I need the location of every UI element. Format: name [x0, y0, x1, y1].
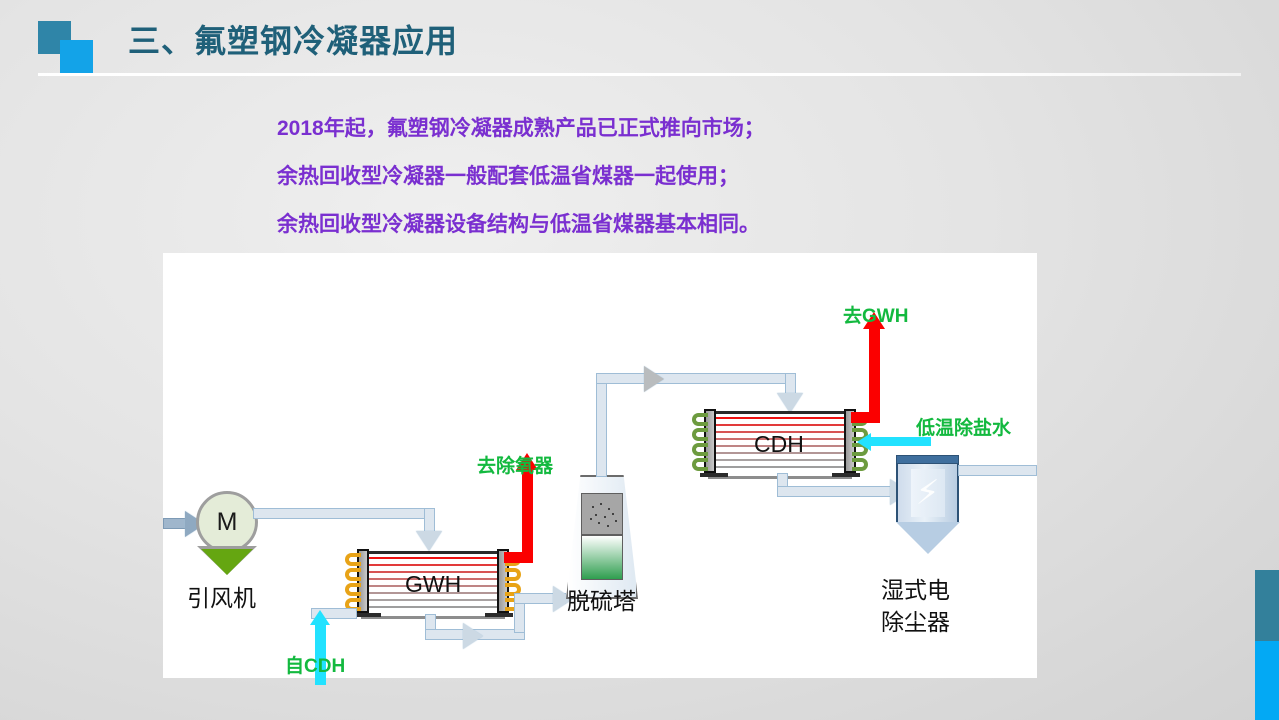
gwh-left-foot: [353, 613, 381, 617]
cdh-left-foot: [700, 473, 728, 477]
wet-electrostatic-precipitator: ⚡: [896, 464, 959, 522]
inlet-duct: [163, 518, 187, 529]
cdh-right-foot: [832, 473, 860, 477]
page-title: 三、氟塑钢冷凝器应用: [128, 16, 458, 62]
duct-cdh-inlet-down: [785, 373, 796, 395]
gwh-label: GWH: [405, 571, 461, 598]
edge-decoration-teal: [1255, 570, 1279, 641]
wesp-inner-panel: ⚡: [911, 469, 945, 517]
induced-draft-fan: M: [196, 491, 258, 553]
bullet-line-2: 余热回收型冷凝器一般配套低温省煤器一起使用；: [277, 153, 1177, 201]
wesp-top-cap: [896, 455, 959, 464]
bullet-line-1: 2018年起，氟塑钢冷凝器成熟产品已正式推向市场；: [277, 105, 1177, 153]
bullet-list: 2018年起，氟塑钢冷凝器成熟产品已正式推向市场； 余热回收型冷凝器一般配套低温…: [277, 105, 1177, 249]
fan-base: [201, 549, 253, 575]
to-gwh-arrow-vertical: [869, 328, 880, 420]
cdh-label: CDH: [754, 431, 804, 458]
duct-cdh-feed-arrowhead-icon: [644, 366, 664, 392]
fan-motor-symbol: M: [217, 508, 238, 537]
to-gwh-label: 去GWH: [843, 301, 908, 328]
bullet-line-3: 余热回收型冷凝器设备结构与低温省煤器基本相同。: [277, 201, 1177, 249]
tower-label: 脱硫塔: [567, 582, 636, 616]
gwh-heat-exchanger: GWH: [353, 551, 513, 613]
duct-tower-to-cdh-h: [596, 373, 796, 384]
tower-spray-zone: [581, 493, 623, 535]
to-deaerator-label: 去除氧器: [477, 451, 553, 478]
duct-wesp-outlet: [958, 465, 1037, 476]
header-divider: [38, 73, 1241, 76]
duct-gwh-outlet-arrowhead-icon: [463, 623, 483, 649]
wesp-label-line2: 除尘器: [881, 603, 950, 637]
duct-fan-to-gwh: [253, 508, 435, 519]
duct-gwh-inlet-arrowhead-icon: [416, 531, 442, 551]
duct-cdh-inlet-arrowhead-icon: [777, 393, 803, 413]
low-temp-water-label: 低温除盐水: [916, 413, 1011, 440]
duct-tower-to-cdh-up: [596, 373, 607, 477]
low-temp-water-arrowhead-icon: [857, 433, 871, 451]
wesp-hopper: [896, 522, 960, 554]
edge-decoration-blue: [1255, 641, 1279, 720]
wesp-label-line1: 湿式电: [881, 571, 950, 605]
tower-liquid-zone: [581, 535, 623, 580]
process-flow-diagram: M 引风机 GWH 去: [163, 253, 1037, 678]
from-cdh-label: 自CDH: [285, 651, 345, 678]
lightning-bolt-icon: ⚡: [916, 476, 940, 510]
header-square-blue: [60, 40, 93, 73]
duct-cdh-to-wesp: [777, 486, 907, 497]
fan-label: 引风机: [187, 579, 256, 613]
deaerator-arrow-vertical: [522, 469, 533, 559]
from-cdh-arrowhead-icon: [310, 610, 330, 625]
cdh-heat-exchanger: CDH: [700, 411, 860, 473]
gwh-right-foot: [485, 613, 513, 617]
